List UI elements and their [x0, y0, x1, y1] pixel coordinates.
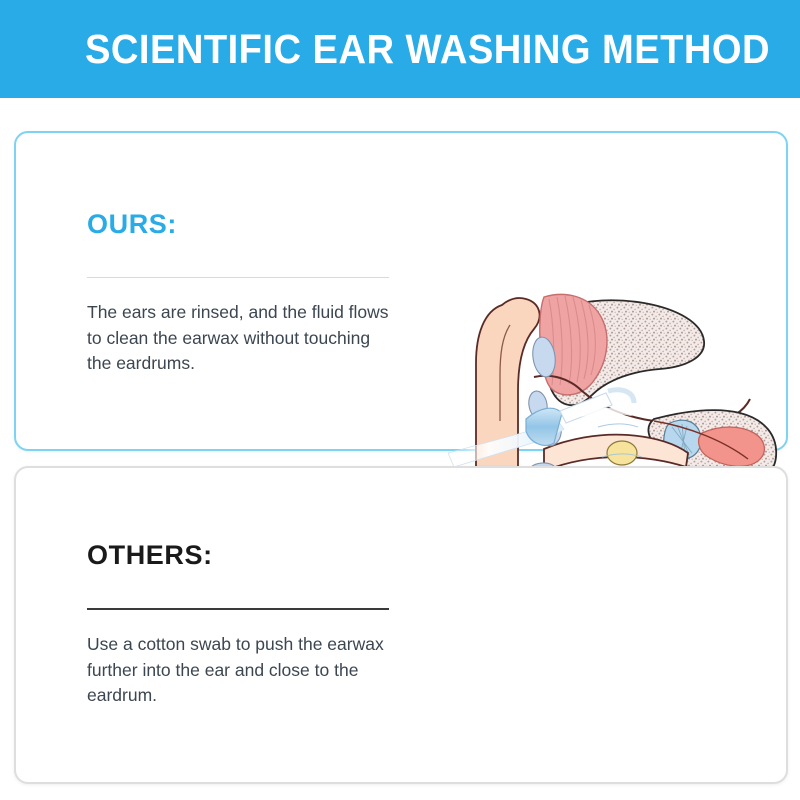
- ours-divider: [87, 277, 389, 278]
- card-others: OTHERS: Use a cotton swab to push the ea…: [14, 466, 788, 784]
- ours-body-text: The ears are rinsed, and the fluid flows…: [87, 300, 392, 377]
- ours-text-column: OURS: The ears are rinsed, and the fluid…: [87, 211, 407, 377]
- header-banner: SCIENTIFIC EAR WASHING METHOD: [0, 0, 800, 98]
- others-heading: OTHERS:: [87, 542, 407, 569]
- others-divider: [87, 608, 389, 610]
- infographic-page: SCIENTIFIC EAR WASHING METHOD OURS: The …: [0, 0, 800, 800]
- card-ours: OURS: The ears are rinsed, and the fluid…: [14, 131, 788, 451]
- page-title: SCIENTIFIC EAR WASHING METHOD: [85, 29, 770, 70]
- others-text-column: OTHERS: Use a cotton swab to push the ea…: [87, 542, 407, 709]
- ours-heading: OURS:: [87, 211, 407, 238]
- others-body-text: Use a cotton swab to push the earwax fur…: [87, 632, 392, 709]
